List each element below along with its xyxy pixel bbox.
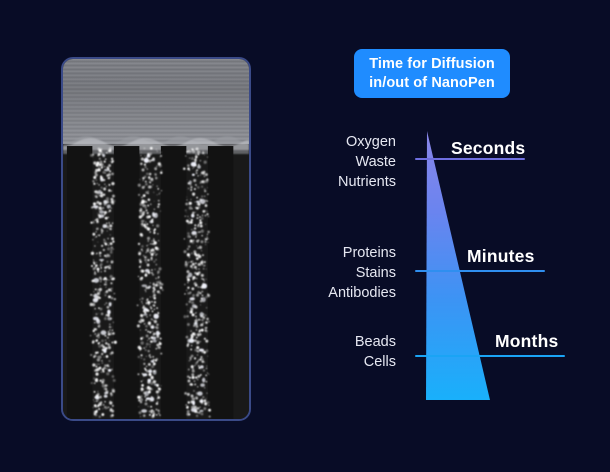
tier-item: Antibodies [328, 283, 396, 303]
tier-rule-months [415, 355, 565, 357]
infographic-canvas: Time for Diffusion in/out of NanoPen Sec… [0, 0, 610, 472]
tier-items-seconds: Oxygen Waste Nutrients [338, 132, 396, 192]
tier-label-seconds: Seconds [451, 138, 525, 159]
tier-item: Cells [355, 352, 396, 372]
diagram-title-line2: in/out of NanoPen [369, 74, 495, 92]
nanopen-micrograph-image [63, 59, 249, 419]
tier-label-months: Months [495, 331, 558, 352]
tier-item: Beads [355, 332, 396, 352]
tier-item: Oxygen [338, 132, 396, 152]
tier-rule-minutes [415, 270, 545, 272]
tier-item: Waste [338, 152, 396, 172]
diagram-title-badge: Time for Diffusion in/out of NanoPen [354, 49, 510, 98]
tier-item: Stains [328, 263, 396, 283]
tier-item: Proteins [328, 243, 396, 263]
tier-label-minutes: Minutes [467, 246, 535, 267]
nanopen-micrograph-panel [61, 57, 251, 421]
tier-items-minutes: Proteins Stains Antibodies [328, 243, 396, 303]
tier-items-months: Beads Cells [355, 332, 396, 372]
tier-item: Nutrients [338, 172, 396, 192]
diagram-title-line1: Time for Diffusion [369, 55, 495, 73]
